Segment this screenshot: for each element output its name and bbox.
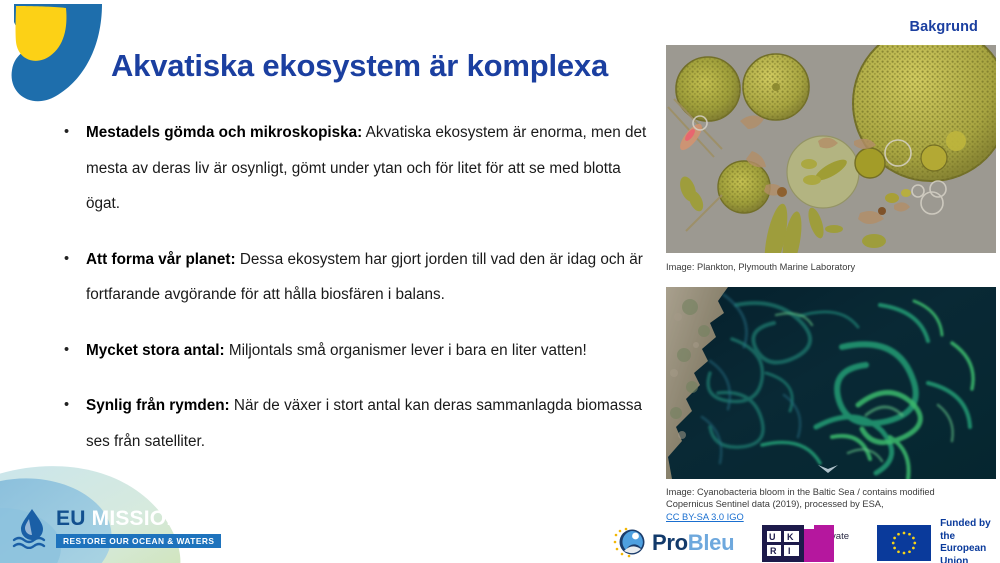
eu-missions-logo: EU MISSIONS RESTORE OUR OCEAN & WATERS [10,505,190,557]
eu-flag-icon [877,525,931,561]
list-item-lead: Att forma vår planet: [86,251,236,268]
water-droplet-icon [12,507,52,549]
list-item-text: Mycket stora antal: Miljontals små organ… [86,333,656,369]
probleu-pro: Pro [652,530,688,555]
list-item: • Mycket stora antal: Miljontals små org… [60,333,656,369]
innovate-uk-logo: UK RI Innovate UK [734,525,849,562]
list-item: • Att forma vår planet: Dessa ekosystem … [60,242,656,313]
header-section-label: Bakgrund [910,19,978,35]
list-item: • Mestadels gömda och mikroskopiska: Akv… [60,115,656,222]
list-item: • Synlig från rymden: När de växer i sto… [60,388,656,459]
page-title: Akvatiska ekosystem är komplexa [111,48,608,84]
list-item-body: Miljontals små organismer lever i bara e… [225,342,587,359]
list-item-text: Synlig från rymden: När de växer i stort… [86,388,656,459]
bullet-list: • Mestadels gömda och mikroskopiska: Akv… [60,115,656,479]
list-item-text: Att forma vår planet: Dessa ekosystem ha… [86,242,656,313]
svg-text:R: R [770,546,777,556]
eu-missions-eu: EU [56,507,86,530]
eu-funding-logo: Funded by the European Union [849,518,1000,563]
bloom-caption-line1: Image: Cyanobacteria bloom in the Baltic… [666,486,1000,498]
list-item-lead: Mestadels gömda och mikroskopiska: [86,124,362,141]
list-item-text: Mestadels gömda och mikroskopiska: Akvat… [86,115,656,222]
eu-leaf-logo-icon [6,2,106,105]
svg-text:I: I [788,546,791,556]
eu-funding-line1: Funded by [940,518,1000,531]
eu-missions-strapline: RESTORE OUR OCEAN & WATERS [56,534,221,548]
probleu-wordmark: ProBleu [652,530,734,556]
svg-text:U: U [769,532,776,542]
cyanobacteria-satellite-photo [666,287,996,479]
svg-text:K: K [787,532,794,542]
eu-missions-wordmark: EU MISSIONS RESTORE OUR OCEAN & WATERS [56,507,221,549]
bullet-marker-icon: • [60,388,86,423]
bullet-marker-icon: • [60,115,86,150]
eu-missions-title: EU MISSIONS [56,507,221,531]
plankton-microscopy-photo [666,45,996,253]
license-link[interactable]: CC BY-SA 3.0 IGO [666,512,744,522]
slide-canvas: Bakgrund Akvatiska ekosystem är komplexa… [0,0,1000,563]
probleu-logo: ProBleu [612,526,734,560]
bullet-marker-icon: • [60,242,86,277]
plankton-photo-caption: Image: Plankton, Plymouth Marine Laborat… [666,261,1000,273]
ukri-block-icon: UK RI [762,525,804,562]
eu-funding-text: Funded by the European Union [940,518,1000,563]
bloom-caption-line2: Copernicus Sentinel data (2019), process… [666,498,1000,510]
list-item-lead: Mycket stora antal: [86,342,225,359]
eu-funding-line2: the European Union [940,531,1000,563]
probleu-bleu: Bleu [688,530,734,555]
eu-missions-missions: MISSIONS [92,507,196,530]
probleu-globe-icon [612,526,648,560]
bullet-marker-icon: • [60,333,86,368]
list-item-lead: Synlig från rymden: [86,397,230,414]
footer-logo-strip: ProBleu UK RI [612,524,1000,562]
